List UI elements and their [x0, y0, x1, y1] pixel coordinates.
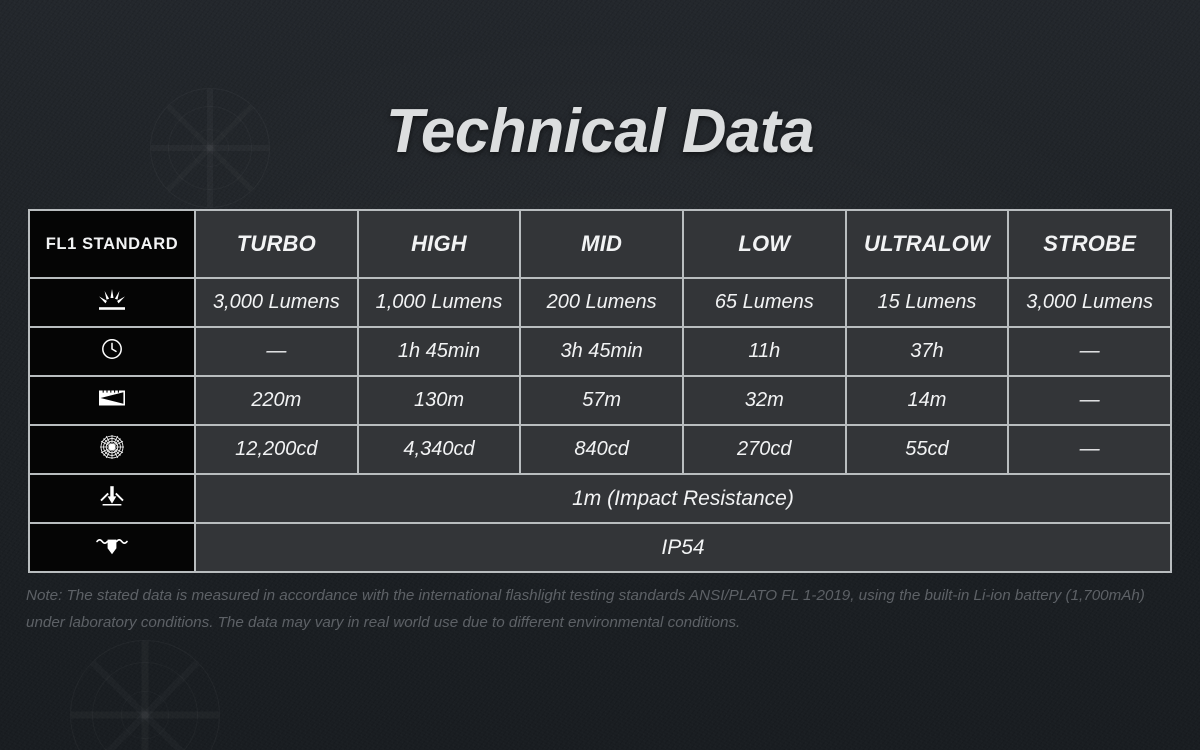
cell-lumens-strobe: 3,000 Lumens — [1009, 279, 1170, 326]
peak-intensity-icon — [99, 434, 125, 460]
cell-intensity-strobe: — — [1009, 426, 1170, 473]
spec-cell-peak-intensity — [30, 426, 194, 473]
table-row-water-resistance: IP54 — [30, 524, 1170, 571]
cell-intensity-ultralow: 55cd — [847, 426, 1008, 473]
header-low: LOW — [684, 211, 845, 277]
header-ultralow: ULTRALOW — [847, 211, 1008, 277]
cell-distance-strobe: — — [1009, 377, 1170, 424]
cell-water-resistance-value: IP54 — [196, 524, 1170, 571]
cell-intensity-turbo: 12,200cd — [196, 426, 357, 473]
technical-data-table: FL1 STANDARD TURBO HIGH MID LOW ULTRALOW… — [28, 209, 1172, 573]
beam-distance-icon — [96, 386, 128, 410]
cell-intensity-low: 270cd — [684, 426, 845, 473]
water-resistance-icon — [95, 532, 129, 558]
header-mid: MID — [521, 211, 682, 277]
cell-intensity-high: 4,340cd — [359, 426, 520, 473]
cell-runtime-turbo: — — [196, 328, 357, 375]
table-row-impact-resistance: 1m (Impact Resistance) — [30, 475, 1170, 522]
cell-runtime-mid: 3h 45min — [521, 328, 682, 375]
header-strobe: STROBE — [1009, 211, 1170, 277]
spec-cell-lumens — [30, 279, 194, 326]
spec-cell-beam-distance — [30, 377, 194, 424]
footnote-text: Note: The stated data is measured in acc… — [26, 582, 1174, 636]
cell-runtime-high: 1h 45min — [359, 328, 520, 375]
technical-data-table-wrapper: FL1 STANDARD TURBO HIGH MID LOW ULTRALOW… — [28, 209, 1172, 573]
cell-distance-low: 32m — [684, 377, 845, 424]
technical-data-page: Technical Data FL1 STANDARD TURBO HIGH M… — [0, 0, 1200, 750]
cell-runtime-strobe: — — [1009, 328, 1170, 375]
cell-distance-mid: 57m — [521, 377, 682, 424]
watermark-compass-bottom — [70, 640, 220, 750]
table-row-runtime: — 1h 45min 3h 45min 11h 37h — — [30, 328, 1170, 375]
impact-resistance-icon — [97, 483, 127, 509]
table-header-row: FL1 STANDARD TURBO HIGH MID LOW ULTRALOW… — [30, 211, 1170, 277]
page-title: Technical Data — [0, 96, 1200, 167]
clock-icon — [100, 337, 124, 361]
table-row-peak-intensity: 12,200cd 4,340cd 840cd 270cd 55cd — — [30, 426, 1170, 473]
cell-lumens-low: 65 Lumens — [684, 279, 845, 326]
cell-impact-resistance-value: 1m (Impact Resistance) — [196, 475, 1170, 522]
header-high: HIGH — [359, 211, 520, 277]
spec-cell-impact-resistance — [30, 475, 194, 522]
header-fl1-standard: FL1 STANDARD — [30, 211, 194, 277]
cell-runtime-ultralow: 37h — [847, 328, 1008, 375]
header-turbo: TURBO — [196, 211, 357, 277]
cell-lumens-high: 1,000 Lumens — [359, 279, 520, 326]
cell-distance-turbo: 220m — [196, 377, 357, 424]
cell-lumens-turbo: 3,000 Lumens — [196, 279, 357, 326]
table-row-beam-distance: 220m 130m 57m 32m 14m — — [30, 377, 1170, 424]
cell-intensity-mid: 840cd — [521, 426, 682, 473]
lumens-burst-icon — [95, 287, 129, 313]
cell-lumens-ultralow: 15 Lumens — [847, 279, 1008, 326]
cell-runtime-low: 11h — [684, 328, 845, 375]
spec-cell-runtime — [30, 328, 194, 375]
spec-cell-water-resistance — [30, 524, 194, 571]
cell-lumens-mid: 200 Lumens — [521, 279, 682, 326]
watermark-spokes — [71, 641, 219, 750]
table-row-lumens: 3,000 Lumens 1,000 Lumens 200 Lumens 65 … — [30, 279, 1170, 326]
cell-distance-ultralow: 14m — [847, 377, 1008, 424]
cell-distance-high: 130m — [359, 377, 520, 424]
